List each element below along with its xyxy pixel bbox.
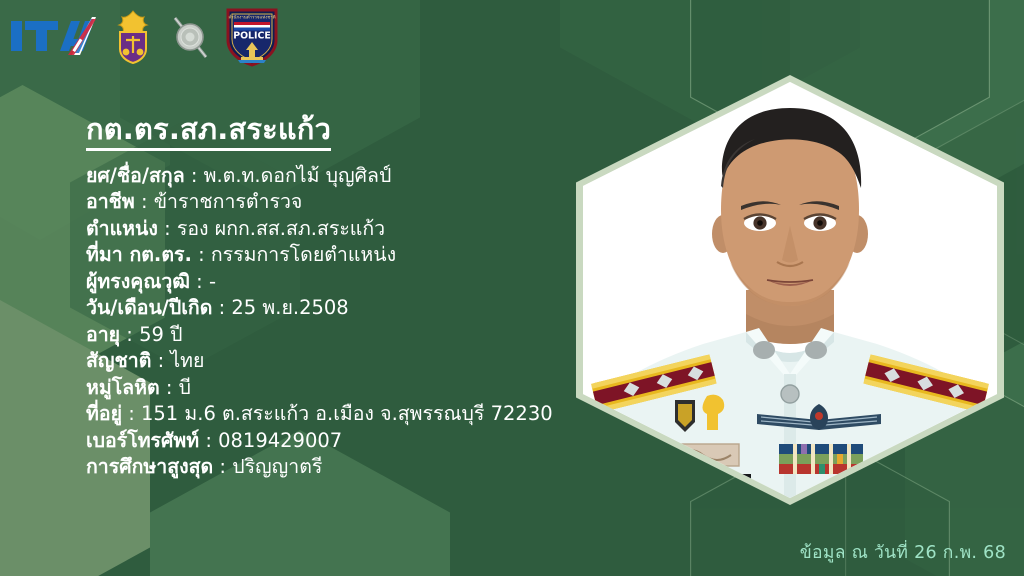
detail-value: 25 พ.ย.2508 xyxy=(231,296,348,319)
detail-value: กรรมการโดยตำแหน่ง xyxy=(211,243,396,266)
detail-row: ที่อยู่ : 151 ม.6 ต.สระแก้ว อ.เมือง จ.สุ… xyxy=(86,401,553,428)
detail-label: อาชีพ xyxy=(86,190,135,213)
detail-value: 0819429007 xyxy=(218,429,342,452)
detail-label: วัน/เดือน/ปีเกิด xyxy=(86,296,212,319)
detail-label: หมู่โลหิต xyxy=(86,376,160,399)
logo-bar: สำนักงานตำรวจแห่งชาติ POLICE xyxy=(8,6,280,68)
detail-value: ไทย xyxy=(170,349,204,372)
detail-value: ปริญญาตรี xyxy=(232,455,322,478)
detail-value: ข้าราชการตำรวจ xyxy=(154,190,303,213)
detail-row: ตำแหน่ง : รอง ผกก.สส.สภ.สระแก้ว xyxy=(86,216,553,243)
detail-value: - xyxy=(209,270,216,293)
portrait-photo: ดอกไม้ บุญศิลป์ xyxy=(583,82,997,498)
detail-separator: : xyxy=(190,270,209,293)
svg-text:POLICE: POLICE xyxy=(233,31,271,42)
detail-label: ผู้ทรงคุณวุฒิ xyxy=(86,270,190,293)
detail-row: หมู่โลหิต : บี xyxy=(86,375,553,402)
detail-separator: : xyxy=(160,376,179,399)
detail-row: วัน/เดือน/ปีเกิด : 25 พ.ย.2508 xyxy=(86,295,553,322)
detail-label: การศึกษาสูงสุด xyxy=(86,455,213,478)
detail-value: พ.ต.ท.ดอกไม้ บุญศิลป์ xyxy=(204,164,392,187)
detail-label: สัญชาติ xyxy=(86,349,151,372)
detail-row: ผู้ทรงคุณวุฒิ : - xyxy=(86,269,553,296)
detail-row: เบอร์โทรศัพท์ : 0819429007 xyxy=(86,428,553,455)
ita-logo xyxy=(8,11,100,63)
police-shield-badge: สำนักงานตำรวจแห่งชาติ POLICE xyxy=(224,6,280,68)
page-title: กต.ตร.สภ.สระแก้ว xyxy=(86,112,331,151)
svg-text:สำนักงานตำรวจแห่งชาติ: สำนักงานตำรวจแห่งชาติ xyxy=(228,15,275,21)
royal-crest-emblem xyxy=(110,9,156,65)
detail-label: ที่มา กต.ตร. xyxy=(86,243,192,266)
detail-row: อาชีพ : ข้าราชการตำรวจ xyxy=(86,189,553,216)
detail-row: อายุ : 59 ปี xyxy=(86,322,553,349)
detail-label: ยศ/ชื่อ/สกุล xyxy=(86,164,185,187)
profile-card-slide: สำนักงานตำรวจแห่งชาติ POLICE กต.ตร.สภ.สร… xyxy=(0,0,1024,576)
detail-separator: : xyxy=(185,164,204,187)
detail-value: 59 ปี xyxy=(139,323,182,346)
portrait-hexagon-frame: ดอกไม้ บุญศิลป์ xyxy=(576,75,1004,505)
detail-row: ยศ/ชื่อ/สกุล : พ.ต.ท.ดอกไม้ บุญศิลป์ xyxy=(86,163,553,190)
detail-separator: : xyxy=(213,455,232,478)
detail-label: เบอร์โทรศัพท์ xyxy=(86,429,199,452)
detail-label: ที่อยู่ xyxy=(86,402,122,425)
detail-value: บี xyxy=(179,376,191,399)
detail-separator: : xyxy=(212,296,231,319)
detail-separator: : xyxy=(120,323,139,346)
detail-label: อายุ xyxy=(86,323,120,346)
detail-separator: : xyxy=(199,429,218,452)
detail-separator: : xyxy=(151,349,170,372)
royal-thai-police-metal-emblem xyxy=(166,9,214,65)
detail-value: รอง ผกก.สส.สภ.สระแก้ว xyxy=(177,217,385,240)
detail-row: ที่มา กต.ตร. : กรรมการโดยตำแหน่ง xyxy=(86,242,553,269)
detail-separator: : xyxy=(192,243,211,266)
detail-separator: : xyxy=(158,217,177,240)
profile-content: กต.ตร.สภ.สระแก้ว ยศ/ชื่อ/สกุล : พ.ต.ท.ดอ… xyxy=(86,112,553,481)
detail-row: สัญชาติ : ไทย xyxy=(86,348,553,375)
detail-separator: : xyxy=(122,402,141,425)
svg-text:ดอกไม้ บุญศิลป์: ดอกไม้ บุญศิลป์ xyxy=(683,477,744,489)
detail-label: ตำแหน่ง xyxy=(86,217,158,240)
detail-list: ยศ/ชื่อ/สกุล : พ.ต.ท.ดอกไม้ บุญศิลป์อาชี… xyxy=(86,163,553,481)
detail-value: 151 ม.6 ต.สระแก้ว อ.เมือง จ.สุพรรณบุรี 7… xyxy=(141,402,553,425)
data-as-of-label: ข้อมูล ณ วันที่ 26 ก.พ. 68 xyxy=(800,538,1006,566)
detail-row: การศึกษาสูงสุด : ปริญญาตรี xyxy=(86,454,553,481)
detail-separator: : xyxy=(135,190,154,213)
